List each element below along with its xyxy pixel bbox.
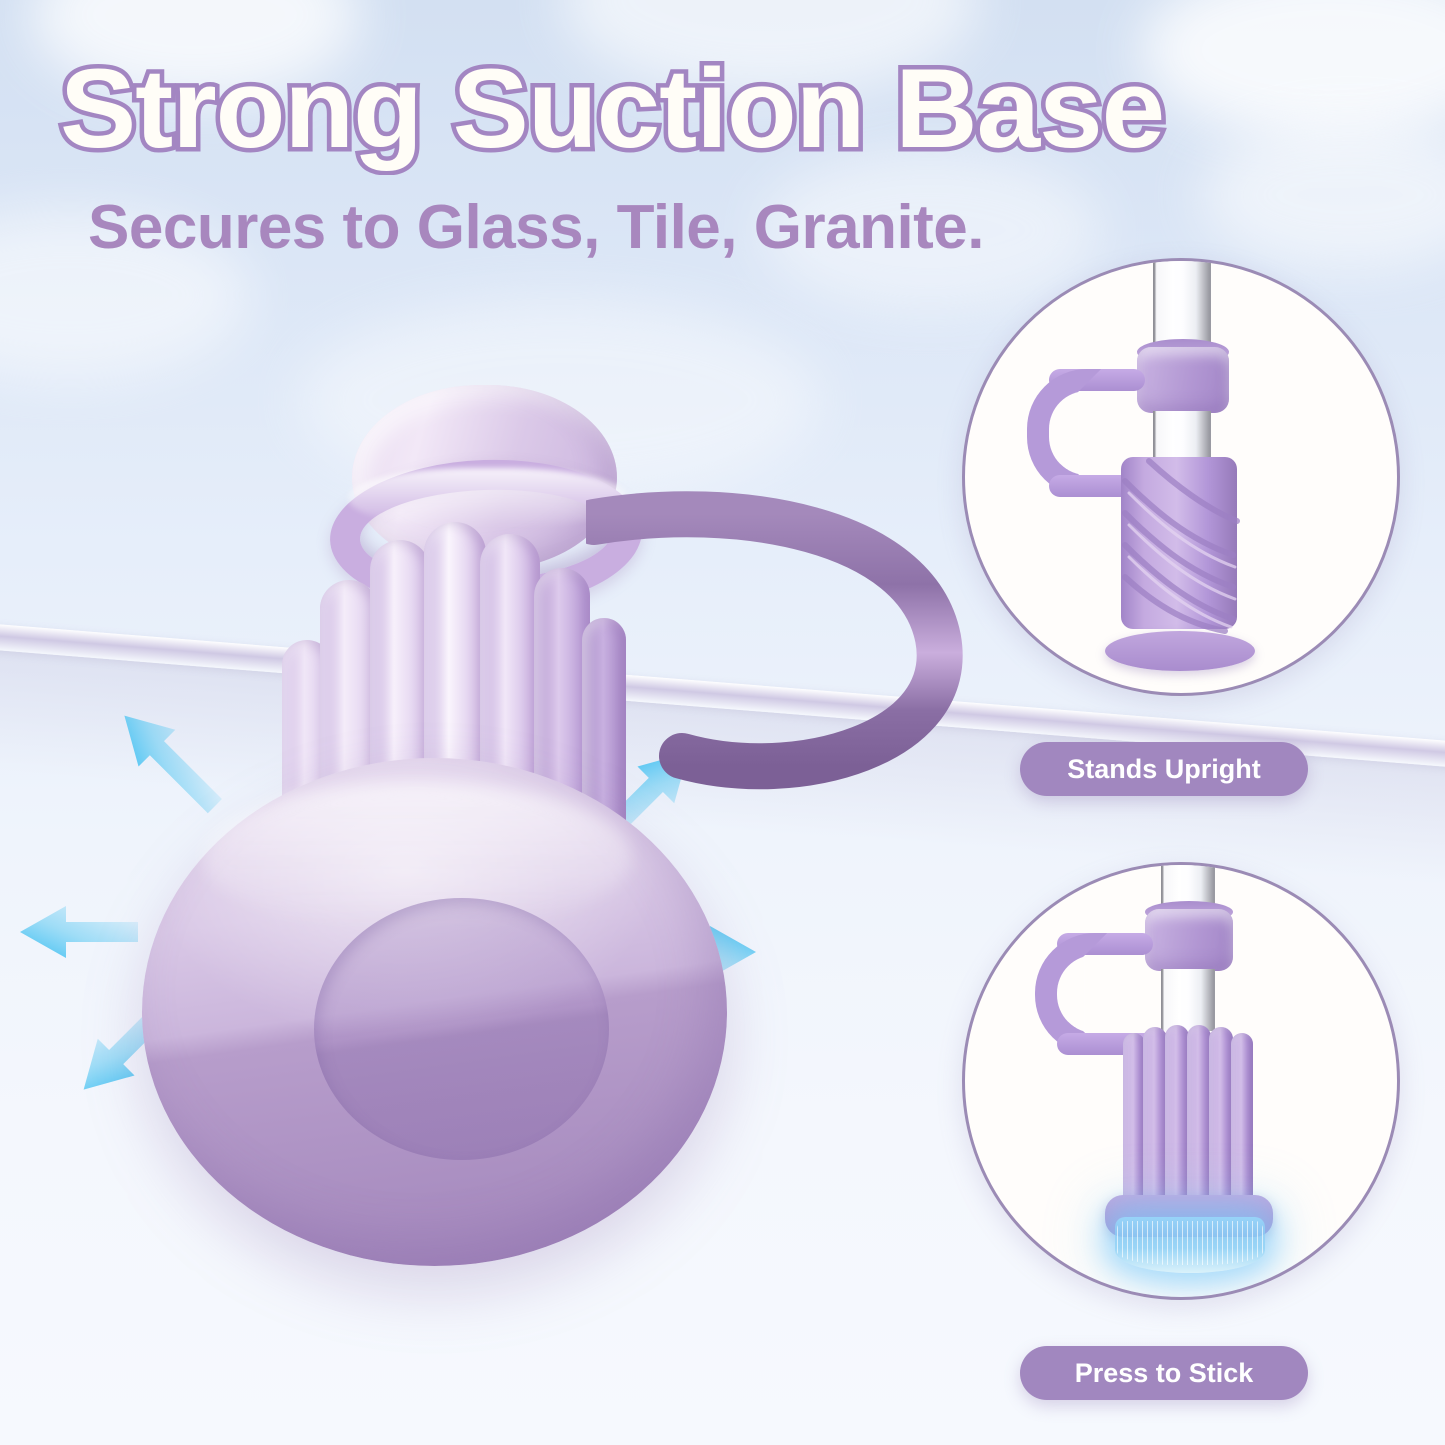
rib [1209, 1027, 1233, 1213]
rib [1187, 1025, 1211, 1213]
straw-tube-lower [1161, 969, 1215, 1031]
spiral-ribbed-base [1113, 451, 1245, 651]
badge-label: Press to Stick [1075, 1358, 1254, 1389]
hero-product-illustration [30, 360, 930, 1280]
badge-label: Stands Upright [1067, 754, 1261, 785]
cloud-decor [1200, 120, 1445, 270]
cloud-decor [1140, 0, 1445, 140]
rib [1165, 1025, 1189, 1213]
suction-contact-lines [1117, 1221, 1263, 1265]
carry-loop-handle [586, 488, 968, 844]
inset-press-to-stick [962, 862, 1400, 1300]
badge-stands-upright[interactable]: Stands Upright [1020, 742, 1308, 796]
straight-ribbed-base [1123, 1025, 1255, 1213]
rib [1143, 1027, 1167, 1213]
inset-stands-upright [962, 258, 1400, 696]
straw-collar-ring [1137, 347, 1229, 413]
page-title: Strong Suction Base [60, 52, 1164, 166]
badge-press-to-stick[interactable]: Press to Stick [1020, 1346, 1308, 1400]
rib [1231, 1033, 1253, 1213]
rib [1123, 1033, 1145, 1213]
suction-foot [1105, 631, 1255, 671]
straw-collar-ring [1145, 909, 1233, 971]
page-subtitle: Secures to Glass, Tile, Granite. [88, 192, 984, 263]
infographic-canvas: Strong Suction Base Secures to Glass, Ti… [0, 0, 1445, 1445]
suction-cup-disc [142, 758, 727, 1266]
suction-cup-inner-disc [314, 898, 609, 1160]
